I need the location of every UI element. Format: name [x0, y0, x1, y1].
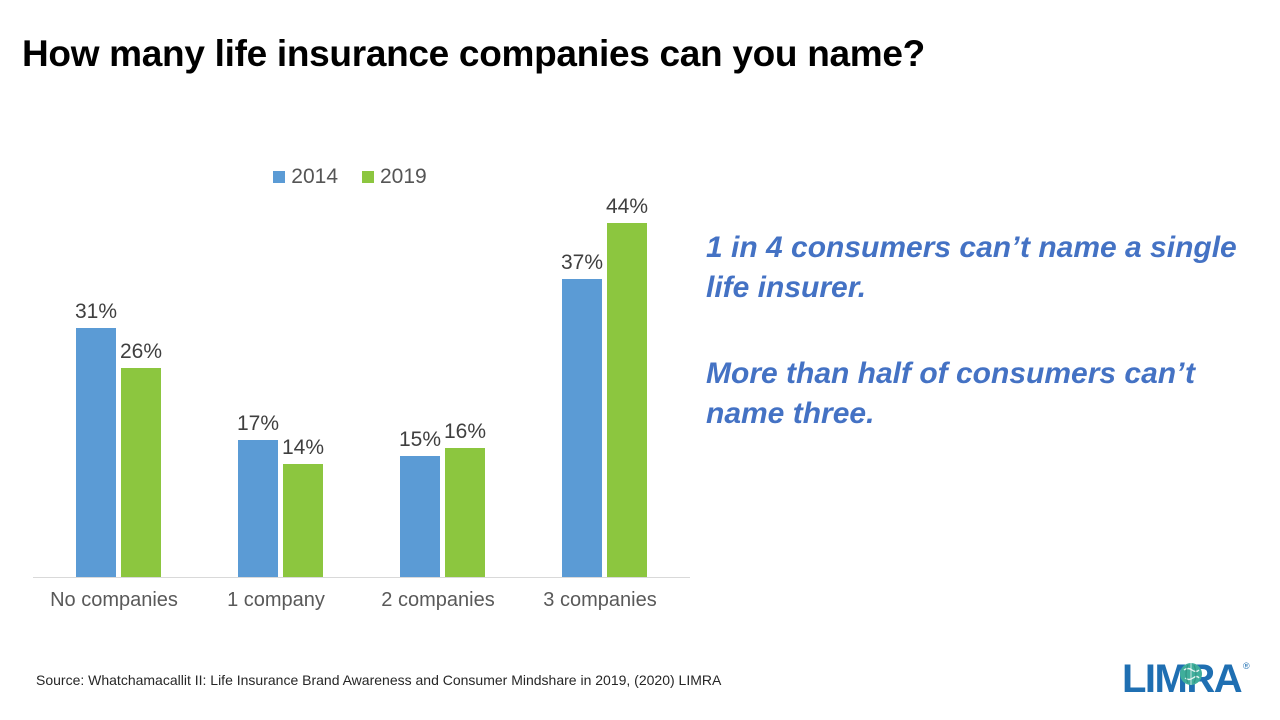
bar-value-label: 26%	[107, 341, 175, 362]
bar-rect	[121, 368, 161, 577]
legend-item-2014[interactable]: 2014	[273, 166, 338, 187]
limra-logo: LIMRA ®	[1122, 655, 1254, 699]
x-axis-line	[33, 577, 690, 578]
bar-rect	[238, 440, 278, 577]
bar-rect	[76, 328, 116, 577]
bar-value-label: 14%	[269, 437, 337, 458]
bar-group-2-companies: 15% 16%	[357, 207, 519, 577]
bar-group-1-company: 17% 14%	[195, 207, 357, 577]
callout-text-block: 1 in 4 consumers can’t name a single lif…	[706, 228, 1266, 434]
page-title: How many life insurance companies can yo…	[22, 34, 1222, 75]
bar-value-label: 37%	[548, 252, 616, 273]
bar-value-label: 17%	[224, 413, 292, 434]
bar-group-3-companies: 37% 44%	[519, 207, 681, 577]
registered-mark: ®	[1243, 661, 1250, 671]
bar-rect	[562, 279, 602, 577]
bar-value-label: 31%	[62, 301, 130, 322]
legend-swatch-2014	[273, 171, 285, 183]
bar-rect	[445, 448, 485, 577]
bar-rect	[283, 464, 323, 577]
callout-paragraph-1: 1 in 4 consumers can’t name a single lif…	[706, 228, 1266, 308]
legend-swatch-2019	[362, 171, 374, 183]
x-label-1-company: 1 company	[195, 590, 357, 610]
bar-value-label: 44%	[593, 196, 661, 217]
chart-legend: 2014 2019	[0, 166, 700, 187]
bar-chart: 2014 2019 31% 26% 17% 14%	[0, 150, 700, 630]
x-label-no-companies: No companies	[33, 590, 195, 610]
bar-value-label: 16%	[431, 421, 499, 442]
plot-area: 31% 26% 17% 14% 15%	[33, 208, 690, 578]
x-label-3-companies: 3 companies	[519, 590, 681, 610]
limra-logo-svg: LIMRA ®	[1122, 655, 1254, 699]
legend-item-2019[interactable]: 2019	[362, 166, 427, 187]
callout-paragraph-2: More than half of consumers can’t name t…	[706, 354, 1266, 434]
x-label-2-companies: 2 companies	[357, 590, 519, 610]
bar-rect	[607, 223, 647, 577]
legend-label-2019: 2019	[380, 166, 427, 187]
bar-rect	[400, 456, 440, 577]
legend-label-2014: 2014	[291, 166, 338, 187]
x-axis-category-labels: No companies 1 company 2 companies 3 com…	[33, 590, 690, 620]
source-note: Source: Whatchamacallit II: Life Insuran…	[36, 673, 721, 687]
bar-group-no-companies: 31% 26%	[33, 207, 195, 577]
